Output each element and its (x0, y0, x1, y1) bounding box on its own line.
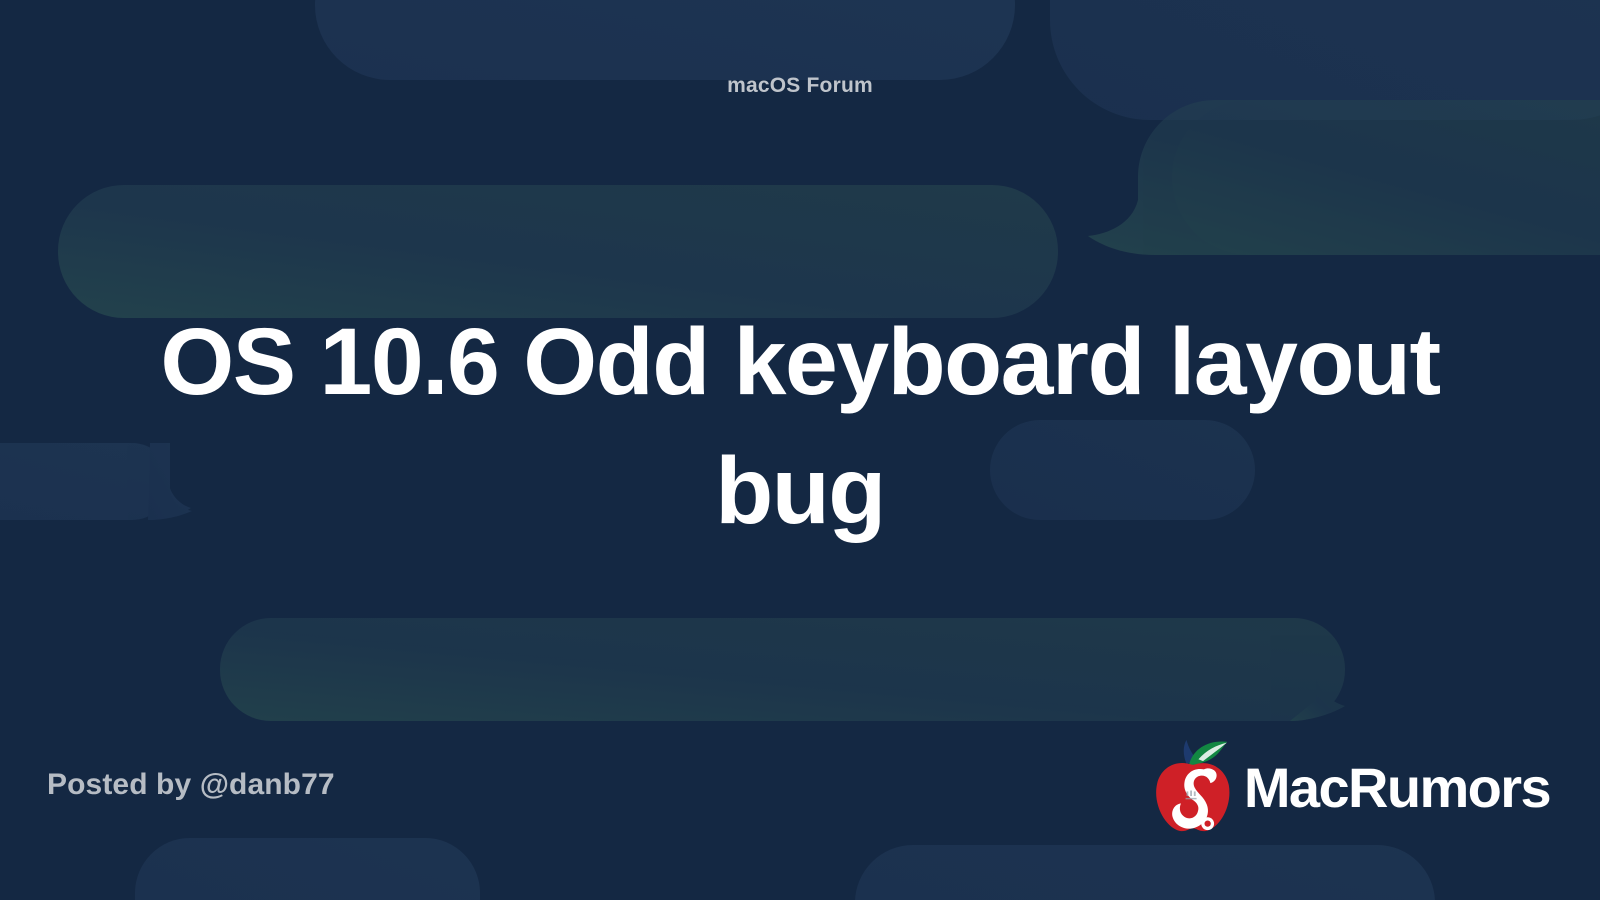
page-title: OS 10.6 Odd keyboard layout bug (145, 298, 1455, 556)
bubble-bottom-center (220, 618, 1345, 721)
bubble-bottom-left (135, 838, 480, 900)
bubble-bottom-right (855, 845, 1435, 900)
forum-category-label: macOS Forum (0, 74, 1600, 98)
brand-wordmark: MacRumors (1244, 760, 1550, 816)
bubble-mid-right-teal (1088, 100, 1600, 255)
macrumors-apple-question-mark-icon (1146, 736, 1238, 834)
bubble-top-far-right (1050, 0, 1600, 120)
brand-lockup: MacRumors (1146, 735, 1550, 835)
bubble-top-right (315, 0, 1015, 80)
share-card: macOS Forum OS 10.6 Odd keyboard layout … (0, 0, 1600, 900)
author-byline: Posted by @danb77 (47, 768, 335, 802)
